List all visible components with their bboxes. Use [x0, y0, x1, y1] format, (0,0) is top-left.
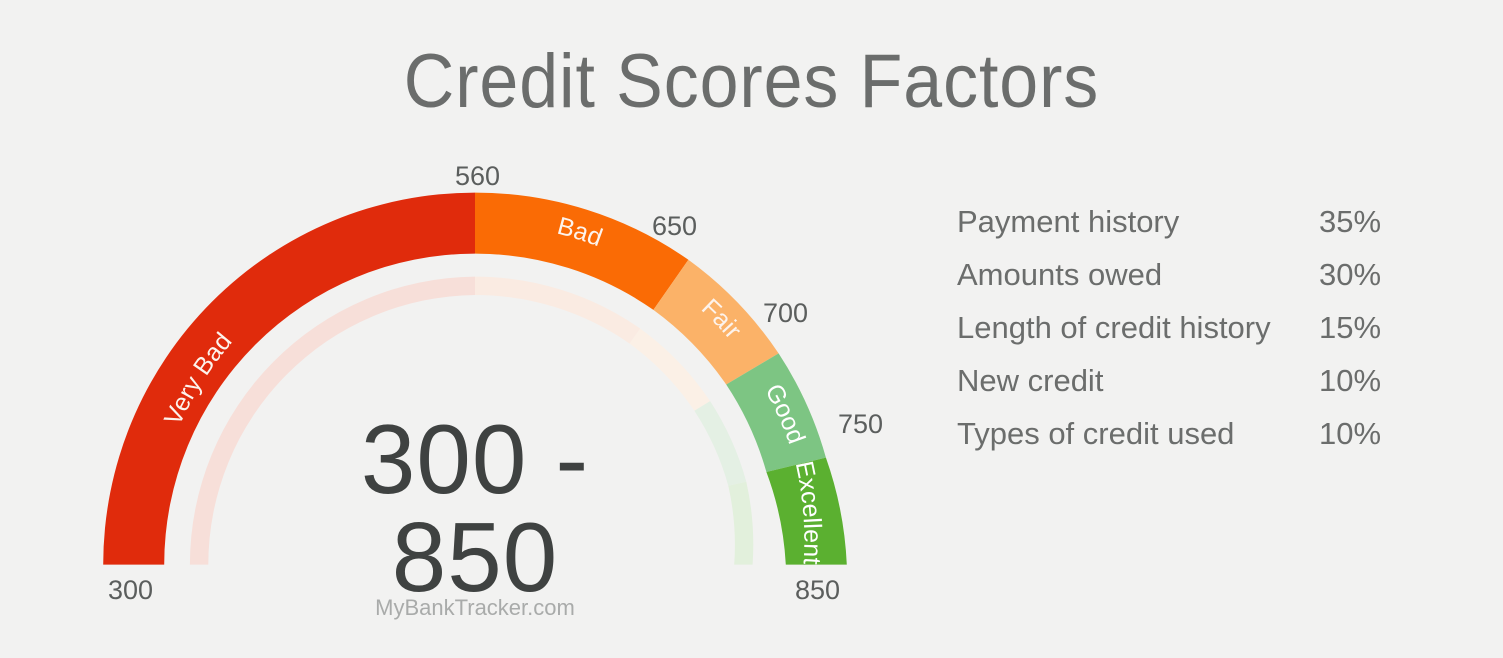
factor-percent: 30% — [1319, 257, 1397, 293]
factor-name: Types of credit used — [957, 416, 1234, 452]
gauge-tick-560: 560 — [455, 161, 500, 192]
factor-percent: 10% — [1319, 416, 1397, 452]
factor-percent: 10% — [1319, 363, 1397, 399]
gauge-center-value: 300 - 850 — [265, 410, 685, 606]
factor-row: Length of credit history 15% — [957, 310, 1397, 363]
poster-canvas: Credit Scores Factors — [0, 0, 1503, 658]
gauge-tick-300: 300 — [108, 575, 153, 606]
factor-row: Amounts owed 30% — [957, 257, 1397, 310]
factor-percent: 35% — [1319, 204, 1397, 240]
gauge-tick-750: 750 — [838, 409, 883, 440]
page-title: Credit Scores Factors — [60, 44, 1443, 120]
factor-name: Amounts owed — [957, 257, 1162, 293]
factor-name: Payment history — [957, 204, 1179, 240]
watermark: MyBankTracker.com — [275, 595, 675, 621]
factor-row: Types of credit used 10% — [957, 416, 1397, 469]
factor-row: New credit 10% — [957, 363, 1397, 416]
inner-band-excellent — [728, 482, 753, 565]
gauge-tick-700: 700 — [763, 298, 808, 329]
gauge-tick-850: 850 — [795, 575, 840, 606]
credit-factors-list: Payment history 35% Amounts owed 30% Len… — [957, 204, 1397, 469]
factor-name: Length of credit history — [957, 310, 1271, 346]
inner-band-good — [694, 401, 746, 486]
factor-row: Payment history 35% — [957, 204, 1397, 257]
factor-percent: 15% — [1319, 310, 1397, 346]
gauge-tick-650: 650 — [652, 211, 697, 242]
factor-name: New credit — [957, 363, 1103, 399]
